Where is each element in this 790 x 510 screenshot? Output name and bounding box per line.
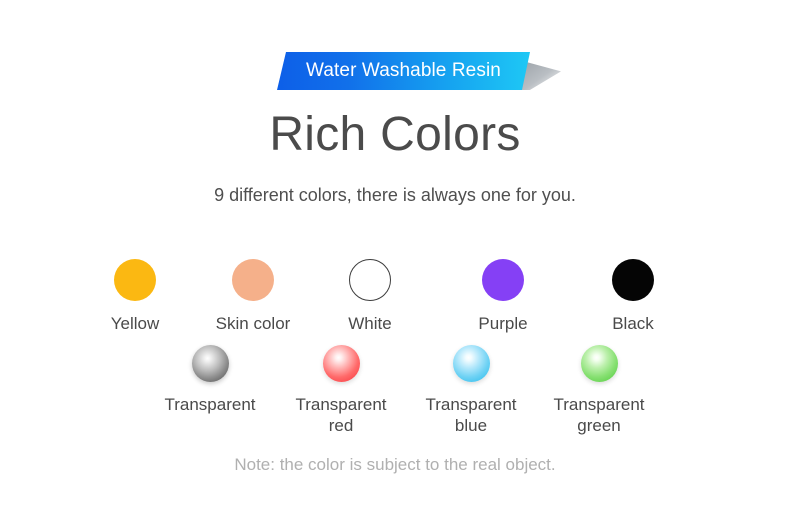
page-title: Rich Colors xyxy=(0,107,790,162)
color-dot-white[interactable] xyxy=(349,259,391,301)
product-banner: Water Washable Resin xyxy=(277,52,530,90)
swatch-skin-color[interactable]: Skin color xyxy=(193,259,313,334)
swatch-white[interactable]: White xyxy=(320,259,420,334)
swatch-row-transparent: Transparent Transparent red Transparent … xyxy=(0,345,790,450)
swatch-label: Skin color xyxy=(193,313,313,334)
swatch-label: White xyxy=(320,313,420,334)
swatch-label: Transparent xyxy=(146,394,274,415)
swatch-label: Purple xyxy=(453,313,553,334)
swatch-transparent-green[interactable]: Transparent green xyxy=(535,345,663,436)
banner-label: Water Washable Resin xyxy=(306,60,501,83)
swatch-label: Transparent green xyxy=(535,394,663,436)
banner-container: Water Washable Resin xyxy=(0,52,790,90)
color-dot-skin-color[interactable] xyxy=(232,259,274,301)
swatch-label: Transparent red xyxy=(277,394,405,436)
swatch-transparent-red[interactable]: Transparent red xyxy=(277,345,405,436)
color-sphere-transparent-red[interactable] xyxy=(323,345,360,382)
swatch-row-primary: Yellow Skin color White Purple Black xyxy=(0,259,790,341)
swatch-label: Transparent blue xyxy=(407,394,535,436)
swatch-transparent[interactable]: Transparent xyxy=(146,345,274,415)
swatch-purple[interactable]: Purple xyxy=(453,259,553,334)
swatch-label: Black xyxy=(583,313,683,334)
swatch-yellow[interactable]: Yellow xyxy=(85,259,185,334)
swatch-transparent-blue[interactable]: Transparent blue xyxy=(407,345,535,436)
color-dot-purple[interactable] xyxy=(482,259,524,301)
disclaimer-note: Note: the color is subject to the real o… xyxy=(0,455,790,475)
swatch-label: Yellow xyxy=(85,313,185,334)
color-sphere-transparent[interactable] xyxy=(192,345,229,382)
color-options-panel: Water Washable Resin Rich Colors 9 diffe… xyxy=(0,0,790,510)
color-dot-yellow[interactable] xyxy=(114,259,156,301)
swatch-black[interactable]: Black xyxy=(583,259,683,334)
page-subtitle: 9 different colors, there is always one … xyxy=(0,185,790,206)
color-sphere-transparent-green[interactable] xyxy=(581,345,618,382)
color-sphere-transparent-blue[interactable] xyxy=(453,345,490,382)
color-dot-black[interactable] xyxy=(612,259,654,301)
